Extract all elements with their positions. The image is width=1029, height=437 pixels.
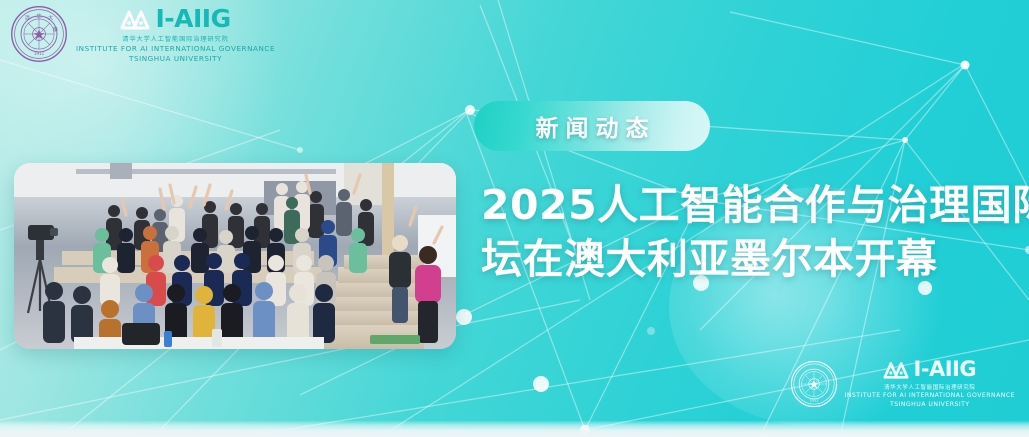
bottom-light-strip (0, 421, 1029, 437)
svg-text:华: 华 (36, 11, 41, 19)
svg-text:清: 清 (25, 13, 30, 21)
svg-text:1911: 1911 (34, 50, 45, 55)
news-category-badge[interactable]: 新闻动态 (474, 101, 710, 151)
svg-text:1911: 1911 (809, 398, 818, 402)
header-logo-wordmark: I-AIIG (155, 6, 230, 31)
header-logo-english-line1: INSTITUTE FOR AI INTERNATIONAL GOVERNANC… (76, 44, 275, 54)
news-banner: 清 华 大 學 1911 I-AIIG 清华大学人工智能国际治理研究院 INST… (0, 0, 1029, 437)
watermark-wordmark: I-AIIG (913, 359, 976, 380)
headline-line-2: 坛在澳大利亚墨尔本开幕 (481, 232, 1021, 286)
watermark-english-line2: TSINGHUA UNIVERSITY (890, 401, 970, 409)
group-photo-illustration (14, 163, 456, 349)
headline: 2025人工智能合作与治理国际论 坛在澳大利亚墨尔本开幕 (481, 178, 1021, 286)
header-logo-english-line2: TSINGHUA UNIVERSITY (129, 54, 222, 64)
conference-group-photo[interactable] (14, 163, 456, 349)
watermark-chinese-name: 清华大学人工智能国际治理研究院 (884, 383, 975, 391)
watermark-iaiig-peaks-icon (883, 360, 909, 379)
svg-text:大: 大 (48, 13, 53, 21)
watermark-english-line1: INSTITUTE FOR AI INTERNATIONAL GOVERNANC… (845, 392, 1015, 400)
watermark-logo-lockup: 1911 I-AIIG 清华大学人工智能国际治理研究院 INSTITUTE FO… (790, 359, 1015, 409)
headline-line-1: 2025人工智能合作与治理国际论 (481, 178, 1021, 232)
watermark-tsinghua-seal-icon: 1911 (790, 360, 838, 408)
iaiig-peaks-icon (120, 8, 150, 30)
header-logo-lockup[interactable]: 清 华 大 學 1911 I-AIIG 清华大学人工智能国际治理研究院 INST… (10, 4, 275, 63)
tsinghua-seal-icon: 清 华 大 學 1911 (10, 5, 68, 63)
news-category-label: 新闻动态 (529, 109, 656, 143)
header-logo-chinese-name: 清华大学人工智能国际治理研究院 (122, 34, 228, 43)
